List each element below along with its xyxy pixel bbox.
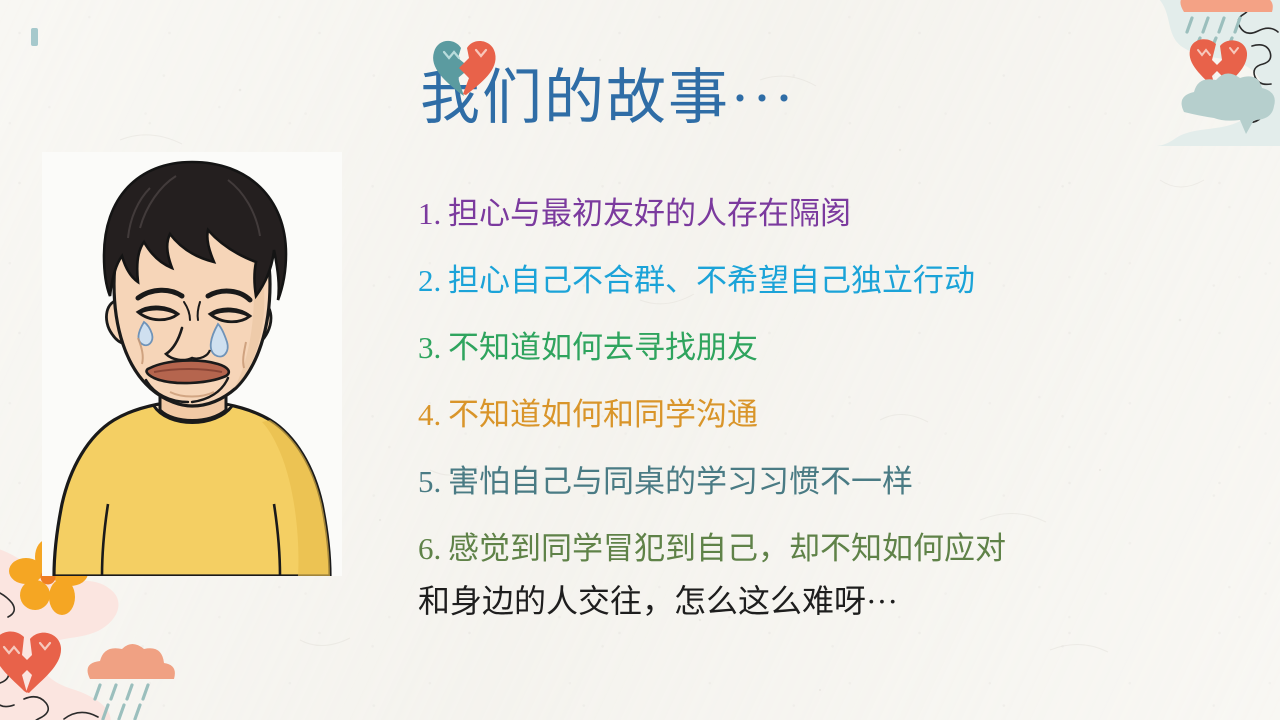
rain-cloud-icon bbox=[1180, 0, 1272, 50]
crying-child-illustration bbox=[42, 152, 342, 576]
list-item-text: 感觉到同学冒犯到自己，却不知如何应对 bbox=[448, 515, 1006, 582]
list-item: 2. 担心自己不合群、不希望自己独立行动 bbox=[418, 247, 1158, 314]
list-item-number: 6. bbox=[418, 515, 448, 582]
list-item-number: 2. bbox=[418, 247, 448, 314]
mint-blob-shape bbox=[1154, 0, 1280, 146]
broken-heart-icon bbox=[1190, 39, 1247, 91]
list-item-text: 担心与最初友好的人存在隔阂 bbox=[448, 180, 851, 247]
closing-line: 和身边的人交往，怎么这么难呀··· bbox=[418, 575, 1178, 627]
title-broken-heart-icon bbox=[428, 34, 500, 96]
list-item-number: 1. bbox=[418, 180, 448, 247]
list-item: 4. 不知道如何和同学沟通 bbox=[418, 381, 1158, 448]
top-right-decoration bbox=[1056, 0, 1280, 151]
list-item-number: 4. bbox=[418, 381, 448, 448]
list-item-text: 害怕自己与同桌的学习习惯不一样 bbox=[448, 448, 913, 515]
slide-canvas: 我们的故事··· 1. 担心与最初友好的人存在隔阂 2. 担心自己不合群、不希望… bbox=[0, 0, 1280, 720]
title-block: 我们的故事··· bbox=[420, 55, 1080, 141]
list-item-text: 不知道如何和同学沟通 bbox=[448, 381, 758, 448]
rain-cloud-icon bbox=[88, 644, 175, 719]
speech-cloud-icon bbox=[1182, 73, 1275, 134]
list-item: 1. 担心与最初友好的人存在隔阂 bbox=[418, 180, 1158, 247]
teal-tick-icon bbox=[31, 28, 38, 46]
squiggle-lines bbox=[0, 589, 98, 720]
story-list: 1. 担心与最初友好的人存在隔阂 2. 担心自己不合群、不希望自己独立行动 3.… bbox=[418, 180, 1158, 582]
list-item-text: 担心自己不合群、不希望自己独立行动 bbox=[448, 247, 975, 314]
squiggle-lines bbox=[1228, 0, 1278, 122]
list-item-number: 3. bbox=[418, 314, 448, 381]
list-item: 3. 不知道如何去寻找朋友 bbox=[418, 314, 1158, 381]
broken-heart-icon bbox=[0, 631, 61, 693]
list-item-number: 5. bbox=[418, 448, 448, 515]
list-item-text: 不知道如何去寻找朋友 bbox=[448, 314, 758, 381]
list-item: 5. 害怕自己与同桌的学习习惯不一样 bbox=[418, 448, 1158, 515]
list-item: 6. 感觉到同学冒犯到自己，却不知如何应对 bbox=[418, 515, 1158, 582]
page-title: 我们的故事··· bbox=[420, 55, 1080, 141]
